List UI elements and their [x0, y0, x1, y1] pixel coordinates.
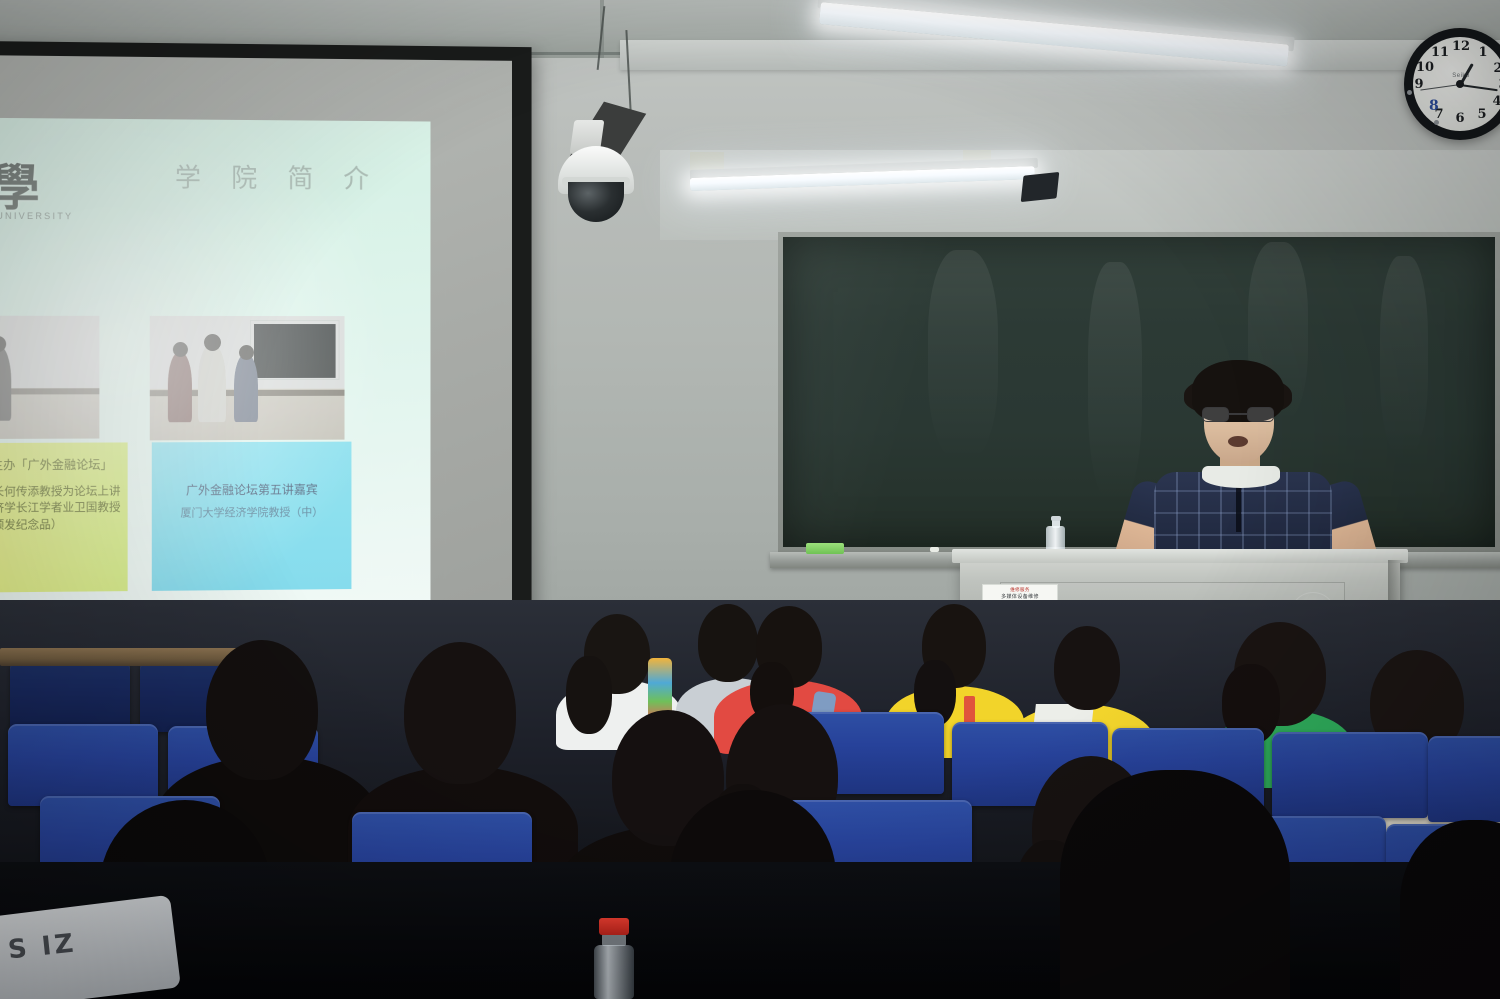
lecturer: [1118, 360, 1388, 575]
lecturer-collar: [1202, 466, 1280, 488]
chair-mid-6[interactable]: [1272, 732, 1428, 818]
slide-cyan-line2: 厦门大学经济学院教授（中）: [160, 504, 344, 521]
chalk-stick-icon: [930, 547, 939, 552]
slide-cyan-caption-panel: 广外金融论坛第五讲嘉宾 厦门大学经济学院教授（中）: [152, 442, 352, 591]
chalk-eraser-icon: [806, 543, 844, 554]
clock-screw-right: [1434, 120, 1439, 125]
clock-number-2: 2: [1490, 61, 1500, 76]
clock-number-4: 4: [1489, 94, 1500, 109]
clock-minute-hand: [1460, 84, 1498, 91]
slide-yellow-caption-panel: 金融学院主办「广外金融论坛」 （我校副校长何传添教授为论坛上讲话致辞、经济学长江…: [0, 442, 128, 593]
lecturer-glasses-icon: [1202, 407, 1276, 422]
wall-upper-panel: [660, 150, 1500, 240]
lecturer-mouth: [1228, 436, 1248, 447]
clock-number-5: 5: [1474, 107, 1490, 122]
clock-screw-left: [1407, 90, 1412, 95]
clock-center-hub: [1456, 80, 1464, 88]
student-head: [404, 642, 516, 784]
student-head: [206, 640, 318, 780]
camera-dome-icon: [568, 182, 624, 222]
slide-university-logo-english: FOREIGN STUDIES UNIVERSITY: [0, 210, 73, 221]
slide-title: 学 院 简 介: [175, 158, 380, 196]
chair-back-1[interactable]: [10, 660, 130, 732]
clock-number-12: 12: [1452, 39, 1468, 54]
slide-yellow-line1: 金融学院主办「广外金融论坛」: [0, 457, 121, 475]
clock-number-1: 1: [1475, 45, 1491, 60]
projection-screen-mat: 貿大學 FOREIGN STUDIES UNIVERSITY 学 院 简 介 学…: [0, 55, 512, 631]
clock-number-8: 8: [1429, 98, 1439, 114]
projection-screen-surface: 貿大學 FOREIGN STUDIES UNIVERSITY 学 院 简 介 学…: [0, 117, 430, 664]
student-head: [1054, 626, 1120, 710]
clock-number-11: 11: [1431, 45, 1447, 60]
security-camera: [552, 120, 642, 250]
slide-university-logo: 貿大學: [0, 147, 49, 220]
ceiling-speaker: [1021, 172, 1060, 202]
slide-cyan-line1: 广外金融论坛第五讲嘉宾: [160, 481, 344, 499]
chair-mid-7[interactable]: [1428, 736, 1500, 822]
slide-yellow-line2: （我校副校长何传添教授为论坛上讲话致辞、经济学长江学者业卫国教授颁发纪念品）: [0, 483, 121, 534]
foreground-head-right: [1060, 770, 1290, 999]
clock-number-10: 10: [1416, 60, 1432, 75]
slide-photo-award: [0, 316, 99, 439]
board-smear-1: [928, 250, 998, 460]
projection-screen-frame: 貿大學 FOREIGN STUDIES UNIVERSITY 学 院 简 介 学…: [0, 41, 532, 642]
slide-photo-group: [150, 316, 345, 440]
foreground-water-bottle: [592, 918, 636, 999]
clock-number-6: 6: [1452, 111, 1468, 126]
chair-mid-1[interactable]: [8, 724, 158, 806]
podium-top-surface: [952, 549, 1408, 563]
lecture-hall-scene: 貿大學 FOREIGN STUDIES UNIVERSITY 学 院 简 介 学…: [0, 0, 1500, 999]
clock-face: Seiko 12 1 2 3 4 5 6 7 8 9 10 11: [1413, 37, 1500, 131]
